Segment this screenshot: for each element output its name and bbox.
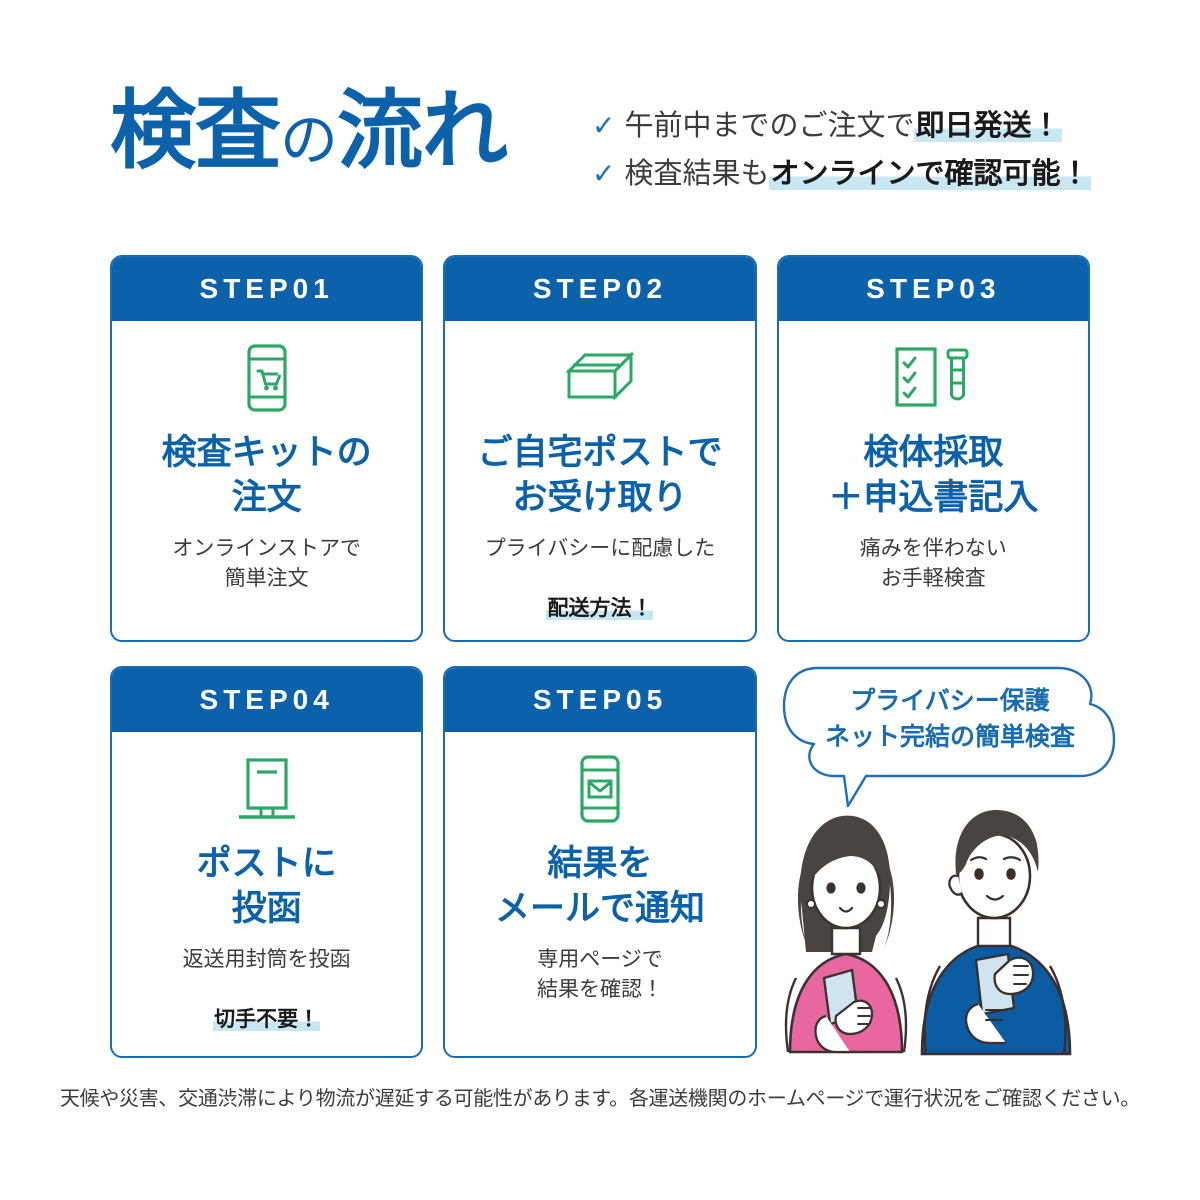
step-card-04-sub: 返送用封筒を投函 切手不要！ xyxy=(183,945,351,1036)
header-bullet-2-highlight: オンラインで確認可能！ xyxy=(769,158,1090,190)
infographic-page: 検査の流れ ✓ 午前中までのご注文で即日発送！ ✓ 検査結果もオンラインで確認可… xyxy=(0,0,1200,1200)
step-card-02-sub-plain: プライバシーに配慮した xyxy=(485,537,716,560)
page-title-tail: 流れ xyxy=(337,83,507,179)
step-card-01-header: STEP01 xyxy=(112,257,421,321)
header-bullet-1: ✓ 午前中までのご注文で即日発送！ xyxy=(592,104,1122,148)
step-card-01[interactable]: STEP01 検査キットの 注文 オ xyxy=(110,255,423,642)
step-card-03-sub-plain: 痛みを伴わない お手軽検査 xyxy=(860,537,1007,590)
footer-note: 天候や災害、交通渋滞により物流が遅延する可能性があります。各運送機関のホームペー… xyxy=(0,1082,1200,1111)
step-card-05-header: STEP05 xyxy=(445,668,754,732)
check-icon: ✓ xyxy=(592,152,615,196)
header-bullet-1-highlight: 即日発送！ xyxy=(914,110,1061,142)
header-bullet-2-text: 検査結果もオンラインで確認可能！ xyxy=(624,152,1090,196)
step-card-03-body: 検体採取 ＋申込書記入 痛みを伴わない お手軽検査 xyxy=(779,321,1088,640)
header: 検査の流れ ✓ 午前中までのご注文で即日発送！ ✓ 検査結果もオンラインで確認可… xyxy=(0,0,1200,230)
woman-holding-phone xyxy=(786,816,906,1052)
illustration-group: プライバシー保護 ネット完結の簡単検査 xyxy=(780,660,1120,1070)
man-holding-phone xyxy=(922,810,1070,1054)
header-bullet-list: ✓ 午前中までのご注文で即日発送！ ✓ 検査結果もオンラインで確認可能！ xyxy=(592,104,1122,200)
speech-bubble-text: プライバシー保護 ネット完結の簡単検査 xyxy=(800,684,1100,755)
header-bullet-2-plain: 検査結果も xyxy=(624,158,769,190)
step-card-04-body: ポストに 投函 返送用封筒を投函 切手不要！ xyxy=(112,732,421,1056)
step-card-05-sub: 専用ページで 結果を確認！ xyxy=(537,945,663,1006)
smartphone-mail-icon xyxy=(577,754,623,824)
step-card-04[interactable]: STEP04 ポストに 投函 返送用封筒を投函 切手不要！ xyxy=(110,666,423,1058)
step-card-02-sub-highlight: 配送方法！ xyxy=(546,597,653,620)
step-card-03[interactable]: STEP03 検体採取 ＋ xyxy=(777,255,1090,642)
mailbox-icon xyxy=(231,754,303,824)
page-title-particle: の xyxy=(280,108,337,173)
step-card-02-body: ご自宅ポストで お受け取り プライバシーに配慮した 配送方法！ xyxy=(445,321,754,640)
step-card-02-title: ご自宅ポストで お受け取り xyxy=(477,431,722,521)
step-card-01-sub-plain: オンラインストアで 簡単注文 xyxy=(172,537,361,590)
page-title: 検査の流れ xyxy=(110,88,507,174)
step-card-01-title: 検査キットの 注文 xyxy=(162,431,372,521)
smartphone-cart-icon xyxy=(244,343,290,413)
step-card-01-sub: オンラインストアで 簡単注文 xyxy=(172,534,361,595)
step-card-03-sub: 痛みを伴わない お手軽検査 xyxy=(860,534,1007,595)
step-card-04-title: ポストに 投函 xyxy=(197,842,337,932)
header-bullet-2: ✓ 検査結果もオンラインで確認可能！ xyxy=(592,152,1122,196)
check-icon: ✓ xyxy=(592,104,615,148)
step-card-02[interactable]: STEP02 ご自宅ポストで お受け取り プライバシーに配慮した 配送方法！ xyxy=(443,255,756,642)
page-title-main: 検査 xyxy=(110,83,280,179)
header-bullet-1-plain: 午前中までのご注文で xyxy=(624,110,914,142)
step-card-05-body: 結果を メールで通知 専用ページで 結果を確認！ xyxy=(445,732,754,1056)
step-row-1: STEP01 検査キットの 注文 オ xyxy=(110,255,1090,642)
step-card-04-header: STEP04 xyxy=(112,668,421,732)
step-card-03-title: 検体採取 ＋申込書記入 xyxy=(828,431,1038,521)
checklist-testtube-icon xyxy=(893,343,973,413)
step-card-04-sub-highlight: 切手不要！ xyxy=(213,1008,320,1031)
step-card-05[interactable]: STEP05 結果を メールで通知 専用ページで 結果を確認！ xyxy=(443,666,756,1058)
step-card-01-body: 検査キットの 注文 オンラインストアで 簡単注文 xyxy=(112,321,421,640)
step-card-02-sub: プライバシーに配慮した 配送方法！ xyxy=(485,534,716,625)
header-bullet-1-text: 午前中までのご注文で即日発送！ xyxy=(624,104,1061,148)
step-card-05-title: 結果を メールで通知 xyxy=(495,842,705,932)
step-card-04-sub-plain: 返送用封筒を投函 xyxy=(183,948,351,971)
step-card-05-sub-plain: 専用ページで 結果を確認！ xyxy=(537,948,663,1001)
step-card-02-header: STEP02 xyxy=(445,257,754,321)
package-box-icon xyxy=(561,343,639,413)
step-card-03-header: STEP03 xyxy=(779,257,1088,321)
